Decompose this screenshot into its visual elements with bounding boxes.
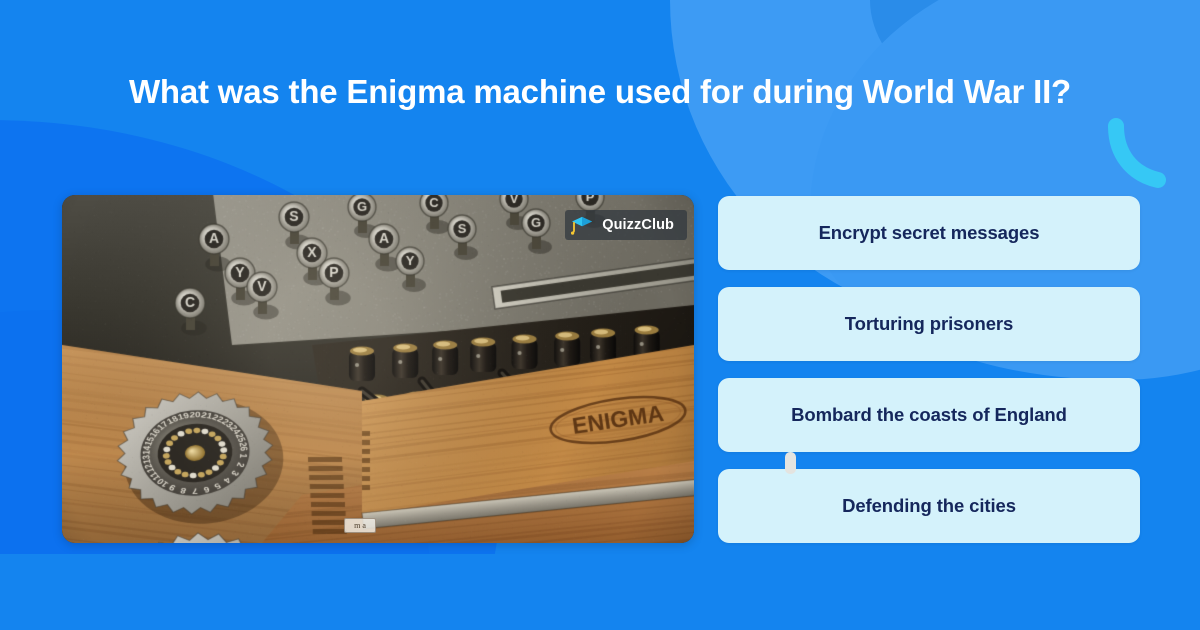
answer-list-marker [785,452,796,474]
photo-stamp-right: a [362,522,366,530]
background-bottom-band [0,554,1200,630]
cyan-crescent-accent [1106,118,1172,190]
answer-option-1[interactable]: Encrypt secret messages [718,196,1140,270]
answer-option-2[interactable]: Torturing prisoners [718,287,1140,361]
photo-corner-stamp: m a [344,518,376,533]
question-image: QuizzClub m a [62,195,694,543]
photo-stamp-left: m [354,522,360,530]
question-title: What was the Enigma machine used for dur… [0,72,1200,112]
enigma-machine-photo [62,195,694,543]
answer-option-3[interactable]: Bombard the coasts of England [718,378,1140,452]
quizzclub-watermark: QuizzClub [565,210,687,240]
graduation-cap-icon [571,215,593,235]
quiz-card-canvas: What was the Enigma machine used for dur… [0,0,1200,630]
answer-options-list: Encrypt secret messages Torturing prison… [718,196,1140,543]
answer-option-4[interactable]: Defending the cities [718,469,1140,543]
watermark-brand: QuizzClub [602,217,674,233]
